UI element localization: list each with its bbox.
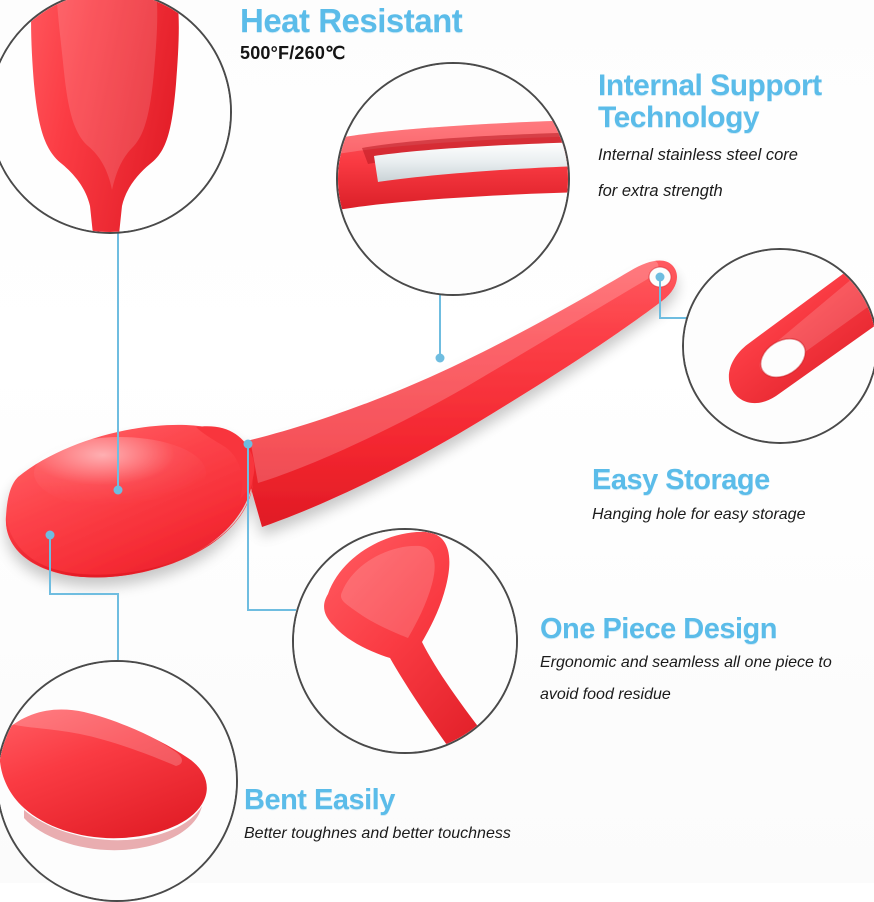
feature-body-internal-support-line1: Internal stainless steel core: [598, 140, 874, 171]
infographic-canvas: Heat Resistant 500°F/260℃ Internal Suppo…: [0, 0, 874, 883]
callout-spatula-head: [0, 0, 232, 234]
feature-body-one-piece-line2: avoid food residue: [540, 680, 870, 710]
feature-one-piece-design: One Piece Design Ergonomic and seamless …: [540, 614, 870, 710]
feature-sub-heat-resistant: 500°F/260℃: [240, 43, 462, 64]
feature-heat-resistant: Heat Resistant 500°F/260℃: [240, 4, 462, 64]
callout-steel-core: [336, 62, 570, 296]
feature-bent-easily: Bent Easily Better toughnes and better t…: [244, 785, 574, 848]
feature-title-one-piece-design: One Piece Design: [540, 614, 870, 645]
callout-seamless-joint-image: [294, 530, 516, 752]
callout-steel-core-image: [338, 64, 568, 294]
callout-hanging-hole-image: [684, 250, 874, 442]
feature-body-easy-storage-line1: Hanging hole for easy storage: [592, 500, 862, 530]
head-highlight: [34, 437, 206, 509]
feature-body-internal-support-line2: for extra strength: [598, 176, 874, 207]
callout-bent-head: [0, 660, 238, 902]
feature-easy-storage: Easy Storage Hanging hole for easy stora…: [592, 465, 862, 529]
feature-body-one-piece-line1: Ergonomic and seamless all one piece to: [540, 648, 870, 678]
feature-body-bent-easily-line1: Better toughnes and better touchness: [244, 819, 574, 849]
feature-internal-support: Internal Support Technology Internal sta…: [598, 70, 874, 207]
callout-bent-head-image: [0, 662, 236, 900]
feature-title-heat-resistant: Heat Resistant: [240, 4, 462, 39]
feature-title-bent-easily: Bent Easily: [244, 785, 574, 816]
feature-title-internal-support: Internal Support Technology: [598, 70, 874, 134]
callout-seamless-joint: [292, 528, 518, 754]
feature-title-easy-storage: Easy Storage: [592, 465, 862, 496]
callout-hanging-hole: [682, 248, 874, 444]
callout-spatula-head-image: [0, 0, 230, 232]
